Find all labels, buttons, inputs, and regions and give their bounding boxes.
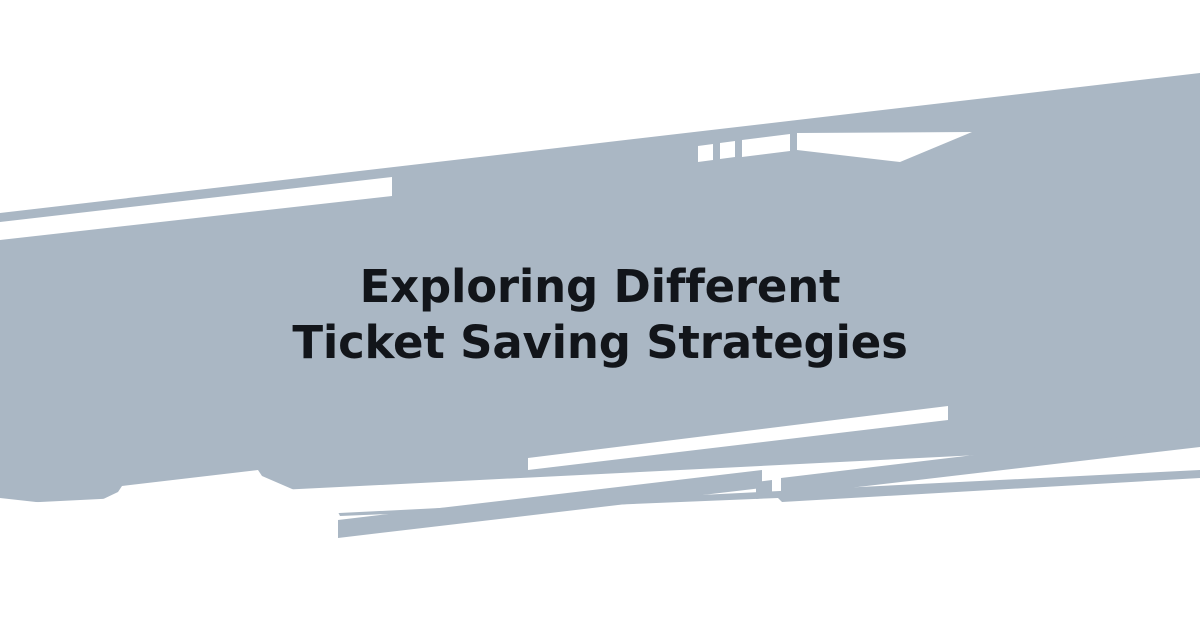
top-dash-1 bbox=[698, 144, 713, 162]
banner-background-art bbox=[0, 0, 1200, 630]
lower-dash bbox=[756, 480, 772, 499]
top-dash-2 bbox=[720, 141, 735, 159]
banner: Exploring Different Ticket Saving Strate… bbox=[0, 0, 1200, 630]
